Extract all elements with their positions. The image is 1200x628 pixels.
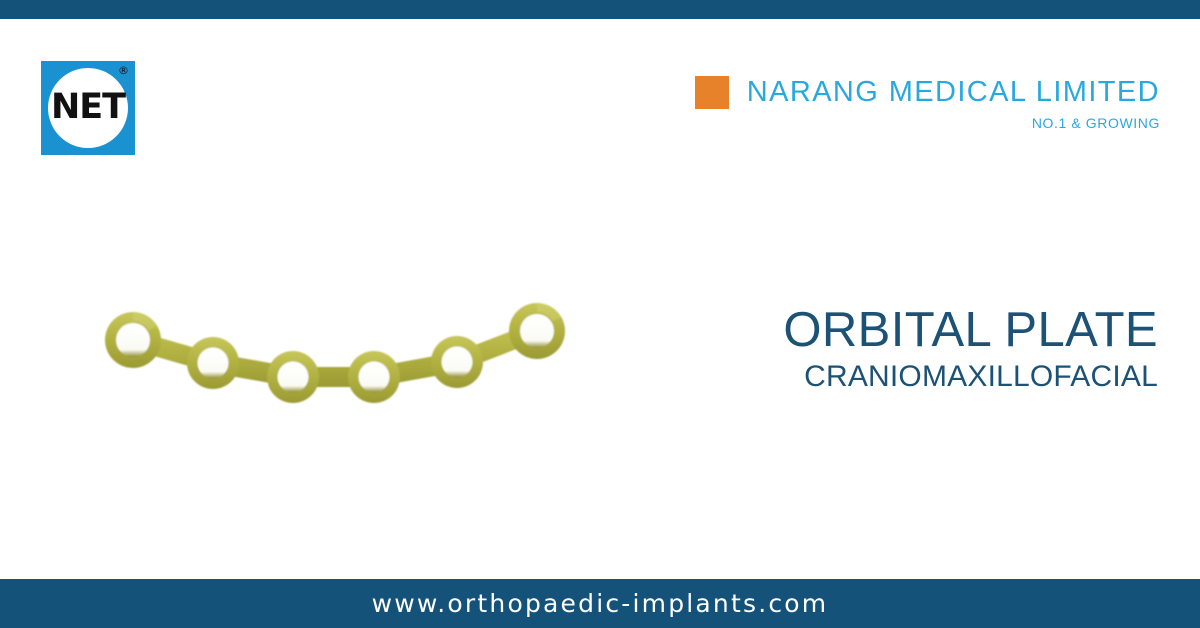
brand-lockup: NARANG MEDICAL LIMITED NO.1 & GROWING (695, 76, 1160, 131)
registered-trademark-icon: ® (118, 65, 129, 76)
brand-tagline: NO.1 & GROWING (695, 115, 1160, 131)
orange-square-icon (695, 76, 729, 109)
net-logo-text: NET (41, 90, 135, 125)
net-logo-icon: NET ® (41, 61, 135, 155)
banner-page: NET ® NARANG MEDICAL LIMITED NO.1 & GROW… (0, 0, 1200, 628)
orbital-plate-photo (80, 270, 600, 410)
product-subtitle: CRANIOMAXILLOFACIAL (783, 359, 1158, 395)
plate-body (105, 303, 565, 403)
page-title: ORBITAL PLATE (783, 303, 1158, 357)
product-title-block: ORBITAL PLATE CRANIOMAXILLOFACIAL (783, 303, 1158, 395)
brand-name: NARANG MEDICAL LIMITED (747, 76, 1160, 109)
top-accent-bar (0, 0, 1200, 19)
footer-website-link[interactable]: www.orthopaedic-implants.com (0, 579, 1200, 628)
orbital-plate-svg (80, 270, 600, 410)
brand-name-row: NARANG MEDICAL LIMITED (695, 76, 1160, 109)
